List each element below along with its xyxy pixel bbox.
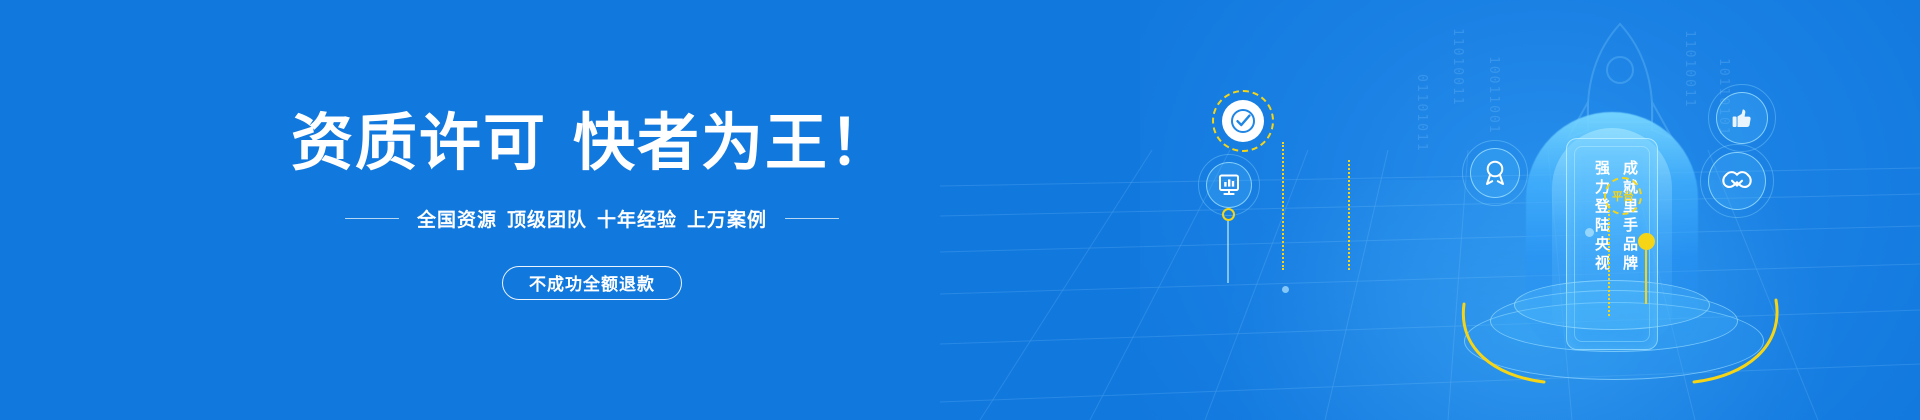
promo-banner: 资质许可快者为王！ 全国资源顶级团队十年经验上万案例 不成功全额退款 11010…	[0, 0, 1920, 420]
subtitle-row: 全国资源顶级团队十年经验上万案例	[345, 205, 839, 232]
subtitle-item-0: 全国资源	[417, 210, 497, 231]
headline-part-2: 快者为王！	[573, 109, 893, 178]
check-circle-icon[interactable]	[1222, 100, 1264, 142]
dome-glow	[1526, 112, 1698, 348]
accent-dot-2	[1282, 286, 1289, 293]
marker-pin-stem	[1227, 221, 1229, 283]
subtitle-item-1: 顶级团队	[507, 210, 587, 231]
background-glow-right	[1140, 0, 1920, 420]
subtitle: 全国资源顶级团队十年经验上万案例	[417, 205, 767, 232]
marker-pin-left[interactable]	[1222, 208, 1235, 283]
podium-ring-outer	[1464, 302, 1764, 380]
podium-ring-middle	[1490, 290, 1738, 352]
connector-line-3	[1608, 206, 1610, 316]
accent-arcs	[1440, 252, 1800, 392]
marker-pin-head	[1638, 233, 1655, 250]
handshake-icon[interactable]	[1708, 152, 1766, 210]
headline-part-1: 资质许可	[291, 109, 547, 178]
banner-content: 资质许可快者为王！ 全国资源顶级团队十年经验上万案例 不成功全额退款	[0, 0, 1160, 420]
podium-ring-inner	[1514, 280, 1710, 330]
accent-dot-1	[1585, 228, 1594, 237]
binary-text-2: 01101011	[1414, 74, 1429, 153]
hero-illustration: 11010011 10011001 01101011 11010011 1011…	[1160, 0, 1920, 420]
subtitle-item-2: 十年经验	[597, 210, 677, 231]
connector-line-2	[1348, 160, 1350, 270]
thumbs-up-icon[interactable]	[1716, 92, 1768, 144]
binary-text-0: 11010011	[1450, 28, 1465, 107]
subtitle-rule-left	[345, 218, 399, 219]
monitor-chart-icon[interactable]	[1206, 162, 1252, 208]
binary-text-1: 10011001	[1486, 56, 1501, 135]
award-medal-icon[interactable]	[1470, 148, 1520, 198]
connector-line-1	[1282, 142, 1284, 270]
binary-text-3: 11010011	[1682, 30, 1697, 109]
rocket-icon	[1560, 18, 1680, 168]
platform-badge[interactable]: 平台	[1604, 177, 1642, 215]
phone-vertical-text-left: 强力登陆央视	[1594, 160, 1609, 274]
subtitle-rule-right	[785, 218, 839, 219]
marker-pin-right[interactable]	[1638, 233, 1655, 304]
page-title: 资质许可快者为王！	[291, 113, 893, 175]
refund-guarantee-button[interactable]: 不成功全额退款	[502, 266, 682, 300]
marker-pin-stem	[1645, 250, 1647, 304]
subtitle-item-3: 上万案例	[687, 210, 767, 231]
